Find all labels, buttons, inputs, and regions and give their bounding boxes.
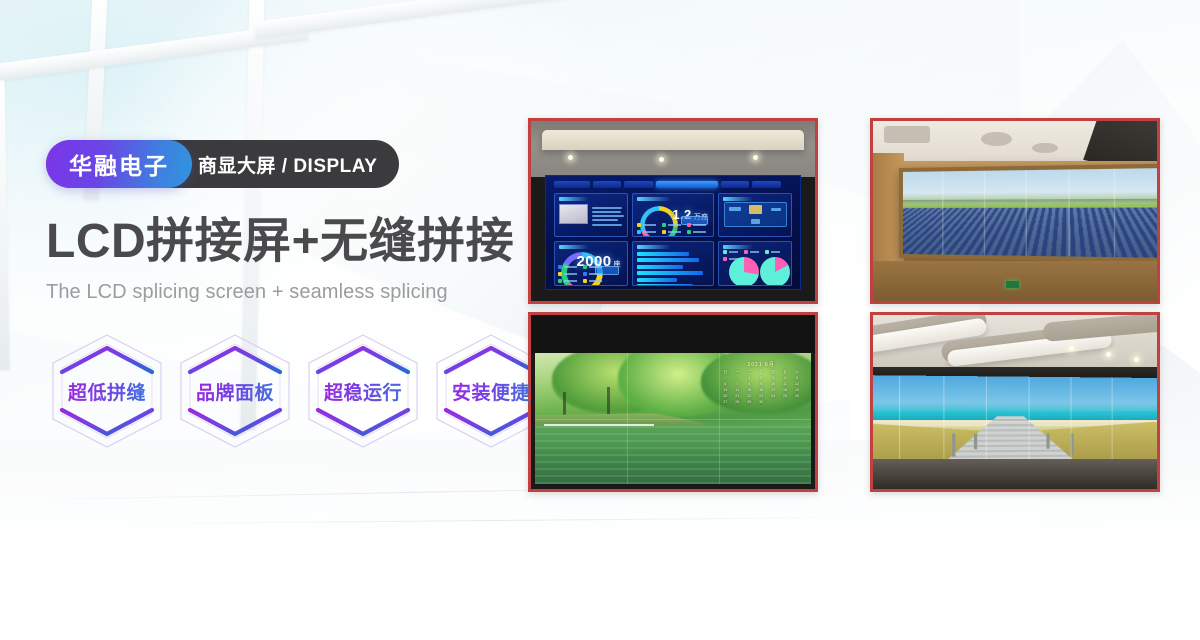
dashboard-card-count: 2000座 xyxy=(554,241,628,285)
brand-pill: 华融电子 xyxy=(46,140,192,188)
feature-hex-1-label: 超低拼缝 xyxy=(68,378,146,405)
feature-hexagon-list: 超低拼缝 品牌面板 超稳运行 xyxy=(48,332,550,450)
beach-videowall-screen xyxy=(873,375,1157,464)
willow-videowall-screen: 2021 6月 日 一 二 三 四 五 六 1 2 3 4 xyxy=(535,353,810,484)
feature-hex-3-label: 超稳运行 xyxy=(324,378,402,405)
dashboard-card-flow xyxy=(718,193,792,237)
dashboard-card-donut: 1.2万座 xyxy=(632,193,715,237)
feature-hex-3: 超稳运行 xyxy=(304,332,422,450)
feature-hex-2-label: 品牌面板 xyxy=(196,378,274,405)
photo-solar-farm-videowall[interactable] xyxy=(870,118,1160,304)
dashboard-screen: 1.2万座 xyxy=(545,175,801,290)
solar-videowall-screen xyxy=(903,168,1157,258)
feature-hex-1: 超低拼缝 xyxy=(48,332,166,450)
photo-control-room-dashboard[interactable]: 1.2万座 xyxy=(528,118,818,304)
calendar-overlay: 2021 6月 日 一 二 三 四 五 六 1 2 3 4 xyxy=(720,361,803,413)
calendar-grid: 日 一 二 三 四 五 六 1 2 3 4 5 6 xyxy=(720,370,803,405)
dashboard-card-bars xyxy=(632,241,715,285)
headline-block: 商显大屏 / DISPLAY 华融电子 LCD拼接屏+无缝拼接 The LCD … xyxy=(46,140,546,304)
solar-videowall-frame xyxy=(899,163,1157,262)
photo-beach-boardwalk-videowall[interactable] xyxy=(870,312,1160,492)
product-photo-gallery: 1.2万座 xyxy=(528,118,1160,492)
dashboard-card-pies xyxy=(718,241,792,285)
calendar-title: 2021 6月 xyxy=(720,361,803,368)
dashboard-card-overview xyxy=(554,193,628,237)
page-title: LCD拼接屏+无缝拼接 xyxy=(46,217,546,268)
feature-hex-2: 品牌面板 xyxy=(176,332,294,450)
exit-sign-icon xyxy=(1006,281,1019,288)
feature-hex-4-label: 安装便捷 xyxy=(452,378,530,405)
brand-badge-row: 商显大屏 / DISPLAY 华融电子 xyxy=(46,140,546,188)
page-subtitle: The LCD splicing screen + seamless splic… xyxy=(46,281,546,304)
photo-willow-lake-videowall[interactable]: 2021 6月 日 一 二 三 四 五 六 1 2 3 4 xyxy=(528,312,818,492)
